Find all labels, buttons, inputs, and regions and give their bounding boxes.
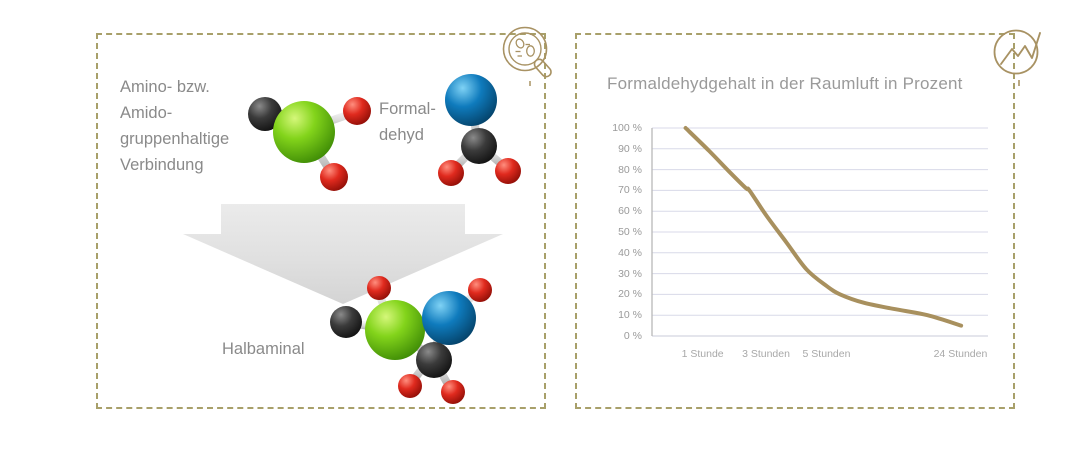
y-axis-tick-label: 30 %: [600, 268, 642, 280]
chart-svg: [600, 120, 1000, 370]
product-label: Halbaminal: [222, 338, 305, 360]
trend-circle-icon: [988, 24, 1050, 86]
y-axis-tick-label: 20 %: [600, 288, 642, 300]
y-axis-tick-label: 90 %: [600, 143, 642, 155]
y-axis-tick-label: 70 %: [600, 184, 642, 196]
x-axis-tick-label: 1 Stunde: [682, 348, 724, 360]
x-axis-tick-label: 3 Stunden: [742, 348, 790, 360]
line-chart: 100 %90 %80 %70 %60 %50 %40 %30 %20 %10 …: [600, 120, 1000, 370]
x-axis-tick-label: 5 Stunden: [803, 348, 851, 360]
chart-title: Formaldehydgehalt in der Raumluft in Pro…: [607, 74, 963, 94]
y-axis-tick-label: 0 %: [600, 330, 642, 342]
y-axis-tick-label: 80 %: [600, 164, 642, 176]
amino-compound-molecule-icon: [238, 82, 384, 198]
y-axis-tick-label: 50 %: [600, 226, 642, 238]
chart-series-line-0: [686, 128, 962, 326]
y-axis-tick-label: 60 %: [600, 205, 642, 217]
formaldehyde-molecule-icon: [434, 68, 540, 190]
y-axis-tick-label: 40 %: [600, 247, 642, 259]
halbaminal-molecule-icon: [320, 268, 506, 410]
y-axis-tick-label: 10 %: [600, 309, 642, 321]
x-axis-tick-label: 24 Stunden: [934, 348, 988, 360]
y-axis-tick-label: 100 %: [600, 122, 642, 134]
infographic-root: Amino- bzw. Amido- gruppenhaltige Verbin…: [0, 0, 1080, 462]
